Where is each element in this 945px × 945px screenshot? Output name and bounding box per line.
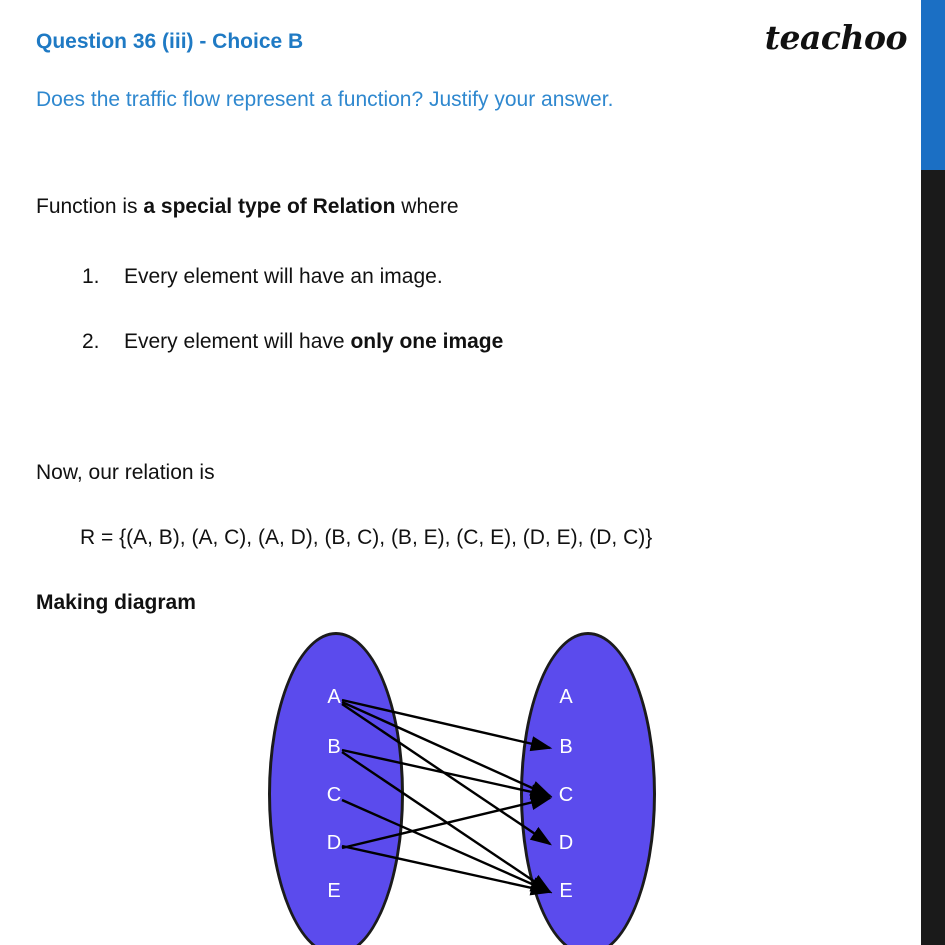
node-right-e: E <box>554 880 578 903</box>
mapping-diagram: A B C D E A B C D E <box>250 628 680 945</box>
node-left-c: C <box>322 784 346 807</box>
node-right-b: B <box>554 736 578 759</box>
list-item-bold: only one image <box>350 330 503 353</box>
right-edge-strip <box>921 0 945 945</box>
node-right-a: A <box>554 686 578 709</box>
node-left-a: A <box>322 686 346 709</box>
node-left-b: B <box>322 736 346 759</box>
arrow-a-c <box>342 702 550 796</box>
arrow-d-e <box>342 846 550 892</box>
slide-page: teachoo Question 36 (iii) - Choice B Doe… <box>0 0 921 945</box>
node-right-d: D <box>554 832 578 855</box>
node-left-e: E <box>322 880 346 903</box>
list-item-text: Every element will have an image. <box>124 265 443 288</box>
page-title: Question 36 (iii) - Choice B <box>36 30 303 54</box>
list-item: 2.Every element will have only one image <box>82 330 503 354</box>
node-right-c: C <box>554 784 578 807</box>
question-text: Does the traffic flow represent a functi… <box>36 88 613 112</box>
right-edge-strip-blue <box>921 0 945 170</box>
arrow-layer <box>250 628 680 945</box>
definition-line: Function is a special type of Relation w… <box>36 195 459 219</box>
list-item-number: 1. <box>82 265 124 289</box>
arrow-c-e <box>342 800 550 892</box>
teachoo-logo: teachoo <box>765 18 907 57</box>
list-item-number: 2. <box>82 330 124 354</box>
definition-pre: Function is <box>36 195 143 218</box>
definition-post: where <box>395 195 458 218</box>
now-relation-line: Now, our relation is <box>36 461 215 485</box>
node-left-d: D <box>322 832 346 855</box>
list-item-text: Every element will have <box>124 330 350 353</box>
making-diagram-heading: Making diagram <box>36 591 196 615</box>
relation-set: R = {(A, B), (A, C), (A, D), (B, C), (B,… <box>80 526 652 550</box>
definition-bold: a special type of Relation <box>143 195 395 218</box>
list-item: 1.Every element will have an image. <box>82 265 443 289</box>
